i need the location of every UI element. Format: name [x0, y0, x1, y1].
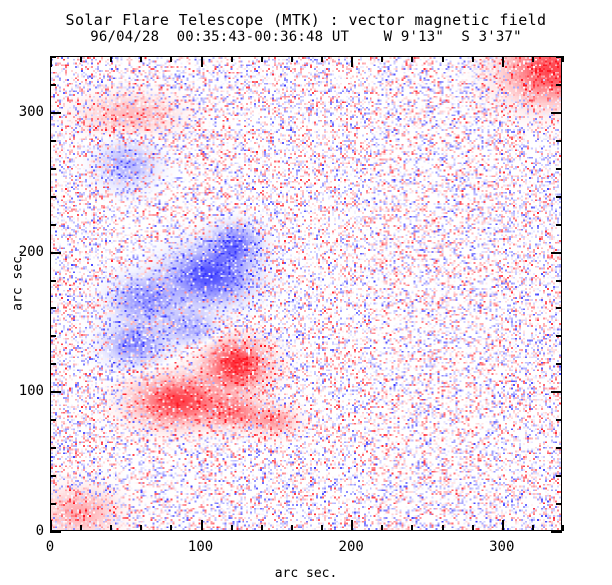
y-tick-right-340: [556, 56, 562, 58]
x-tick-top-320: [532, 56, 534, 62]
y-tick-label-100: 100: [0, 383, 44, 399]
x-tick-280: [472, 525, 474, 531]
x-tick-top-40: [110, 56, 112, 62]
y-tick-right-220: [556, 224, 562, 226]
y-tick-320: [50, 84, 56, 86]
magnetogram-plot-frame: [50, 56, 562, 531]
x-tick-top-80: [170, 56, 172, 62]
figure-subtitle: 96/04/28 00:35:43-00:36:48 UT W 9'13" S …: [0, 29, 612, 46]
x-tick-140: [261, 525, 263, 531]
y-tick-right-240: [556, 196, 562, 198]
x-tick-top-160: [291, 56, 293, 62]
x-tick-top-280: [472, 56, 474, 62]
x-tick-label-100: 100: [171, 539, 231, 555]
y-tick-right-260: [556, 168, 562, 170]
y-tick-right-20: [556, 503, 562, 505]
y-tick-label-0: 0: [0, 523, 44, 539]
x-tick-180: [321, 525, 323, 531]
x-tick-top-220: [381, 56, 383, 62]
x-tick-120: [231, 525, 233, 531]
y-tick-right-40: [556, 475, 562, 477]
y-tick-right-160: [556, 307, 562, 309]
x-tick-top-200: [351, 56, 353, 67]
x-tick-top-120: [231, 56, 233, 62]
y-tick-260: [50, 168, 56, 170]
x-tick-20: [80, 525, 82, 531]
x-tick-160: [291, 525, 293, 531]
y-tick-40: [50, 475, 56, 477]
x-tick-60: [140, 525, 142, 531]
x-tick-100: [201, 520, 203, 531]
x-tick-40: [110, 525, 112, 531]
y-tick-100: [50, 391, 61, 393]
y-tick-60: [50, 447, 56, 449]
x-tick-0: [50, 520, 52, 531]
y-tick-right-200: [551, 252, 562, 254]
x-tick-label-200: 200: [321, 539, 381, 555]
y-axis-title: arc sec.: [11, 230, 26, 330]
y-tick-right-60: [556, 447, 562, 449]
x-tick-80: [170, 525, 172, 531]
y-tick-220: [50, 224, 56, 226]
x-tick-200: [351, 520, 353, 531]
x-tick-top-260: [442, 56, 444, 62]
y-tick-80: [50, 419, 56, 421]
y-tick-160: [50, 307, 56, 309]
x-tick-label-300: 300: [472, 539, 532, 555]
y-tick-right-0: [551, 531, 562, 533]
x-tick-top-20: [80, 56, 82, 62]
x-tick-top-340: [562, 56, 564, 62]
x-tick-240: [411, 525, 413, 531]
x-tick-top-140: [261, 56, 263, 62]
y-tick-right-120: [556, 363, 562, 365]
x-tick-220: [381, 525, 383, 531]
y-tick-label-300: 300: [0, 104, 44, 120]
x-tick-top-0: [50, 56, 52, 67]
y-tick-right-140: [556, 335, 562, 337]
x-tick-260: [442, 525, 444, 531]
y-tick-0: [50, 531, 61, 533]
x-tick-300: [502, 520, 504, 531]
y-tick-right-300: [551, 112, 562, 114]
x-tick-top-300: [502, 56, 504, 67]
y-tick-340: [50, 56, 56, 58]
y-tick-180: [50, 280, 56, 282]
y-tick-right-100: [551, 391, 562, 393]
x-tick-top-180: [321, 56, 323, 62]
y-tick-300: [50, 112, 61, 114]
x-tick-label-0: 0: [20, 539, 80, 555]
x-tick-top-240: [411, 56, 413, 62]
y-tick-right-320: [556, 84, 562, 86]
y-tick-120: [50, 363, 56, 365]
figure-title-block: Solar Flare Telescope (MTK) : vector mag…: [0, 12, 612, 46]
y-tick-280: [50, 140, 56, 142]
x-tick-320: [532, 525, 534, 531]
page-title: Solar Flare Telescope (MTK) : vector mag…: [0, 12, 612, 29]
y-tick-140: [50, 335, 56, 337]
y-tick-right-180: [556, 280, 562, 282]
x-tick-top-100: [201, 56, 203, 67]
x-tick-top-60: [140, 56, 142, 62]
y-tick-right-280: [556, 140, 562, 142]
y-tick-20: [50, 503, 56, 505]
x-tick-340: [562, 525, 564, 531]
y-tick-right-80: [556, 419, 562, 421]
y-tick-200: [50, 252, 61, 254]
x-axis-title: arc sec.: [0, 566, 612, 581]
y-tick-240: [50, 196, 56, 198]
magnetogram-image: [51, 57, 561, 530]
